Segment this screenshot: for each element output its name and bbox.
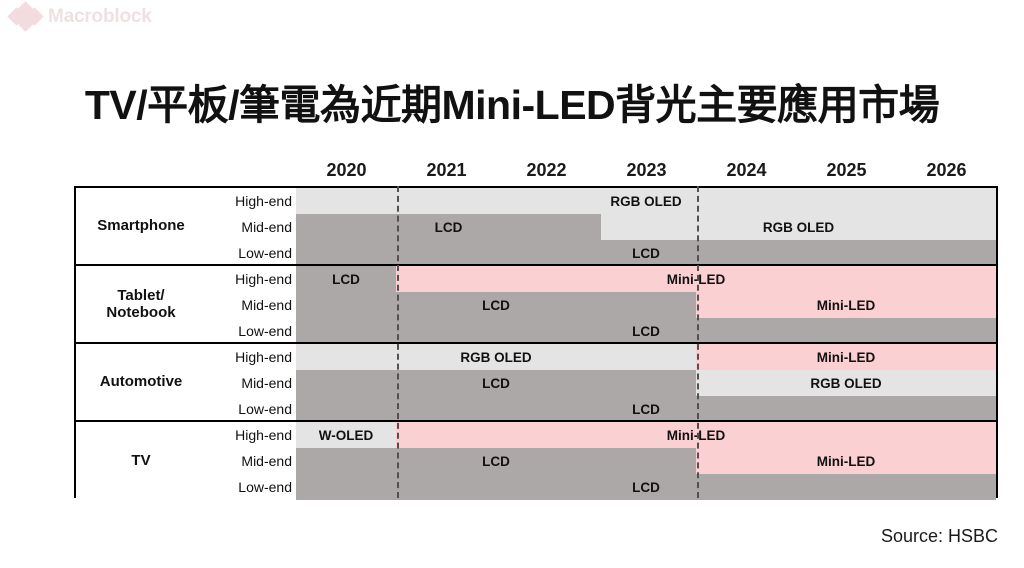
source-note: Source: HSBC [881,526,998,547]
year-tick-2024: 2024 [726,160,766,181]
tier-lane: RGB OLEDMini-LED [296,344,996,370]
tier-label: Mid-end [206,370,296,396]
tier-label: Mid-end [206,448,296,474]
roadmap-segment: Mini-LED [396,266,996,292]
brand-logo: Macroblock [10,4,152,30]
year-tick-2023: 2023 [626,160,666,181]
roadmap-segment: LCD [296,266,396,292]
tier-lane: LCD [296,240,996,264]
tier-label-column: High-endMid-endLow-end [206,188,296,264]
tier-label: Mid-end [206,292,296,318]
roadmap-segment: LCD [296,474,996,500]
year-tick-2026: 2026 [926,160,966,181]
roadmap-segment: Mini-LED [696,344,996,370]
category-label: Automotive [76,344,206,420]
year-tick-2022: 2022 [526,160,566,181]
tier-label: Low-end [206,318,296,344]
category-label: TV [76,422,206,500]
macroblock-diamond-icon [10,4,40,30]
tier-lane: LCDMini-LED [296,448,996,474]
roadmap-segment: LCD [296,396,996,420]
category-block: AutomotiveHigh-endMid-endLow-endRGB OLED… [76,344,996,422]
roadmap-segment: RGB OLED [696,370,996,396]
tier-label: Low-end [206,474,296,500]
roadmap-segment: RGB OLED [296,344,696,370]
tier-lane: LCDRGB OLED [296,214,996,240]
category-block: SmartphoneHigh-endMid-endLow-endRGB OLED… [76,188,996,266]
year-tick-2021: 2021 [426,160,466,181]
tier-label: Low-end [206,240,296,266]
year-tick-2025: 2025 [826,160,866,181]
tier-label: High-end [206,422,296,448]
tier-lane: RGB OLED [296,188,996,214]
roadmap-segment: Mini-LED [696,292,996,318]
technology-roadmap-chart: 2020202120222023202420252026 SmartphoneH… [74,160,998,498]
tier-label: Mid-end [206,214,296,240]
tier-label: High-end [206,344,296,370]
category-label: Tablet/Notebook [76,266,206,342]
tier-lane: LCD [296,396,996,420]
category-label: Smartphone [76,188,206,264]
category-block: TVHigh-endMid-endLow-endW-OLEDMini-LEDLC… [76,422,996,500]
roadmap-segment: RGB OLED [601,214,996,240]
roadmap-segment: LCD [296,448,696,474]
category-plot-area: W-OLEDMini-LEDLCDMini-LEDLCD [296,422,996,500]
roadmap-segment: LCD [296,240,996,264]
category-plot-area: RGB OLEDLCDRGB OLEDLCD [296,188,996,264]
tier-lane: LCDMini-LED [296,292,996,318]
tier-lane: LCDRGB OLED [296,370,996,396]
category-plot-area: LCDMini-LEDLCDMini-LEDLCD [296,266,996,342]
category-block: Tablet/NotebookHigh-endMid-endLow-endLCD… [76,266,996,344]
roadmap-segment: LCD [296,318,996,342]
roadmap-grid: SmartphoneHigh-endMid-endLow-endRGB OLED… [74,186,998,498]
tier-label-column: High-endMid-endLow-end [206,266,296,342]
tier-label: High-end [206,188,296,214]
tier-lane: LCDMini-LED [296,266,996,292]
tier-label: High-end [206,266,296,292]
tier-lane: LCD [296,318,996,342]
brand-wordmark: Macroblock [48,6,152,28]
tier-lane: LCD [296,474,996,500]
category-plot-area: RGB OLEDMini-LEDLCDRGB OLEDLCD [296,344,996,420]
roadmap-segment: RGB OLED [296,188,996,214]
roadmap-segment: LCD [296,214,601,240]
year-tick-2020: 2020 [326,160,366,181]
roadmap-segment: Mini-LED [396,422,996,448]
tier-lane: W-OLEDMini-LED [296,422,996,448]
roadmap-segment: LCD [296,292,696,318]
year-axis: 2020202120222023202420252026 [74,160,998,186]
roadmap-segment: Mini-LED [696,448,996,474]
tier-label-column: High-endMid-endLow-end [206,422,296,500]
tier-label-column: High-endMid-endLow-end [206,344,296,420]
page-title: TV/平板/筆電為近期Mini-LED背光主要應用市場 [0,71,1024,131]
roadmap-segment: W-OLED [296,422,396,448]
roadmap-segment: LCD [296,370,696,396]
tier-label: Low-end [206,396,296,422]
